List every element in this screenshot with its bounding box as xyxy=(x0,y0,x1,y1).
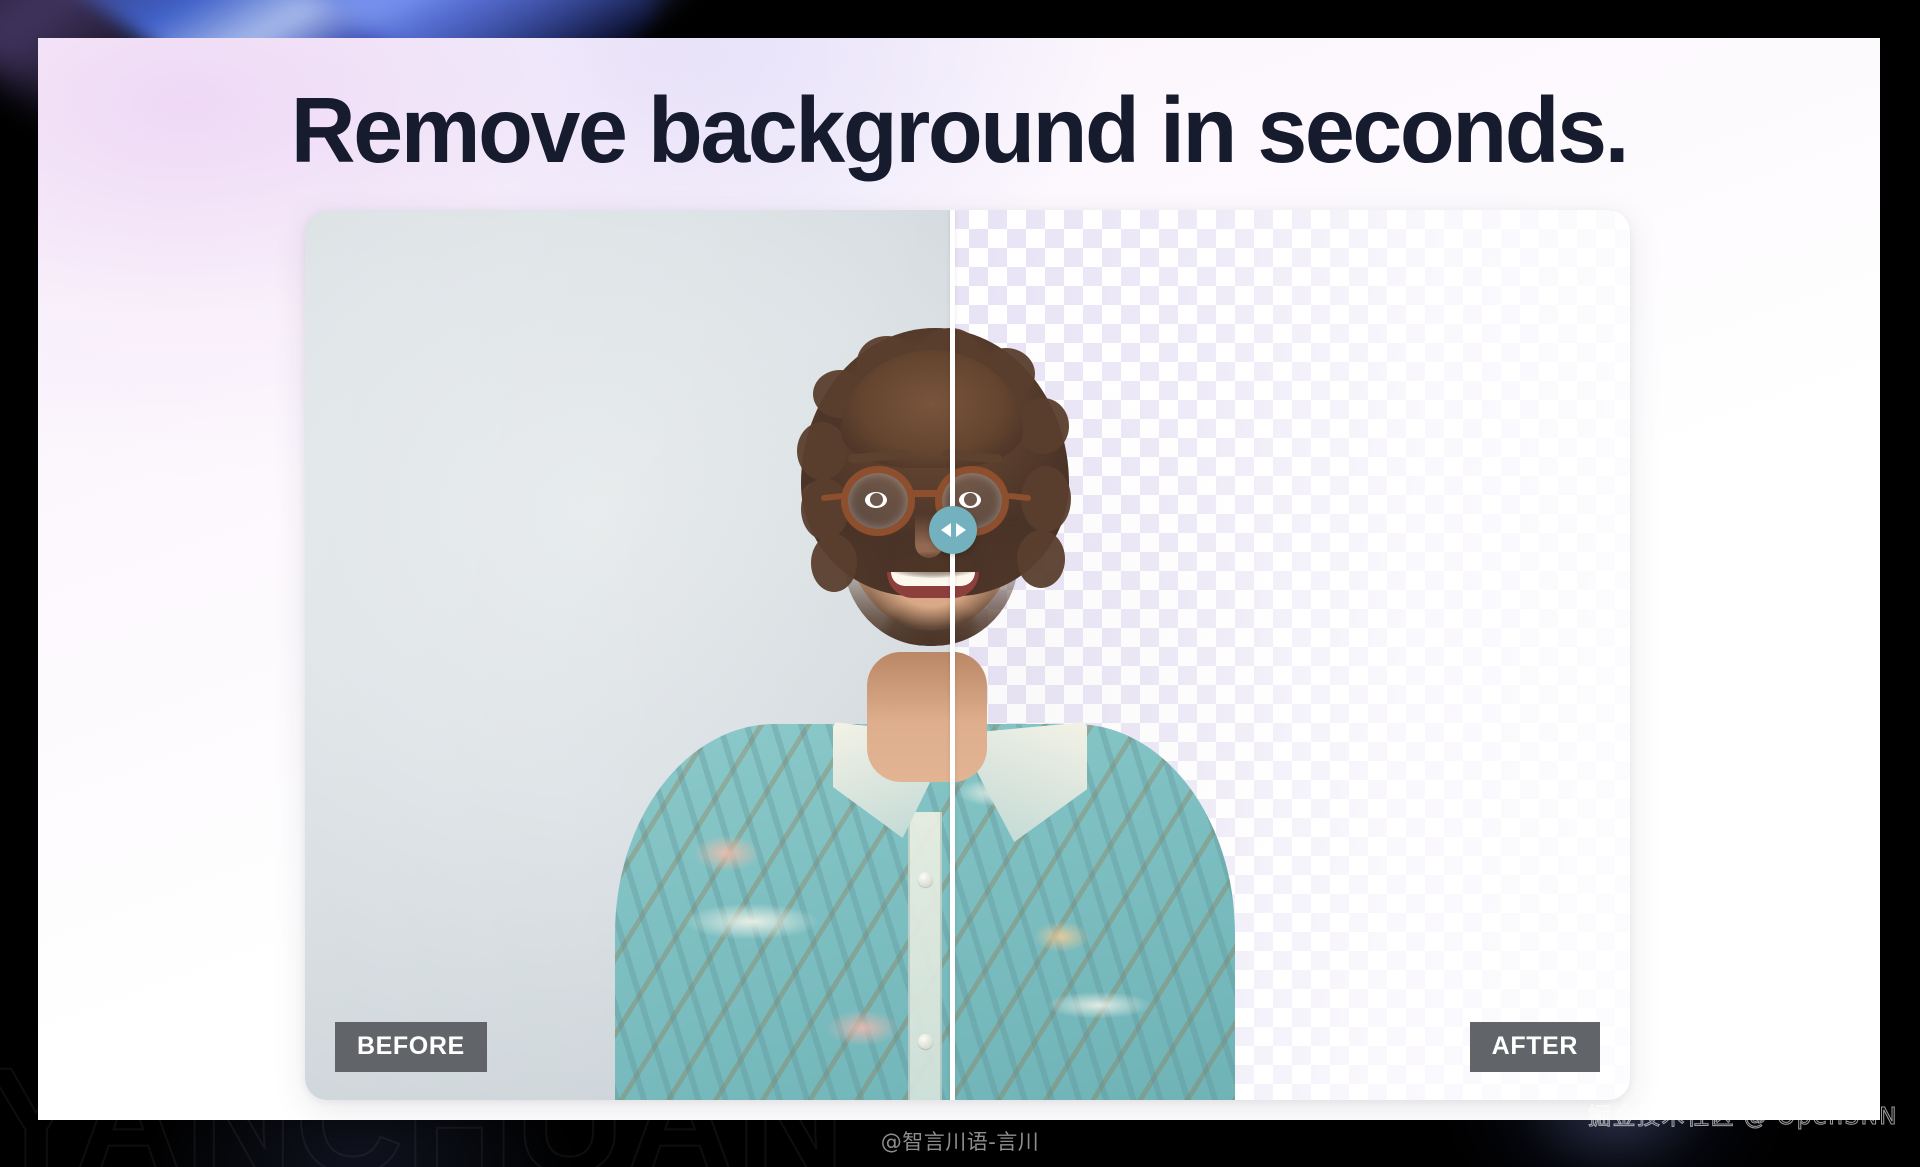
hair-curl xyxy=(1017,398,1069,454)
subject-portrait xyxy=(605,252,1245,1100)
neck-shadow xyxy=(867,652,987,722)
comparison-slider-handle[interactable] xyxy=(929,506,977,554)
shirt-button-upper xyxy=(918,872,933,887)
shirt-button-lower xyxy=(918,1034,933,1049)
chevron-right-icon xyxy=(956,523,966,537)
comparison-divider xyxy=(950,210,955,1100)
shirt-placket xyxy=(908,812,942,1100)
hair-curl xyxy=(797,422,847,480)
screen-root: YANCHUAN Remove background in seconds. xyxy=(0,0,1920,1167)
glasses-lens-left xyxy=(841,466,915,536)
mustache xyxy=(883,552,983,578)
corner-watermark: 掘金技术社区 @ OpenSNN xyxy=(1588,1097,1898,1131)
slide-card: Remove background in seconds. xyxy=(38,38,1880,1120)
page-title: Remove background in seconds. xyxy=(70,82,1848,180)
before-label-badge: BEFORE xyxy=(335,1022,487,1072)
before-after-comparison[interactable]: BEFORE AFTER xyxy=(305,210,1630,1100)
glasses-bridge xyxy=(911,490,941,497)
hair-curl xyxy=(1017,530,1065,588)
after-label-badge: AFTER xyxy=(1470,1022,1600,1072)
chevron-left-icon xyxy=(941,523,951,537)
